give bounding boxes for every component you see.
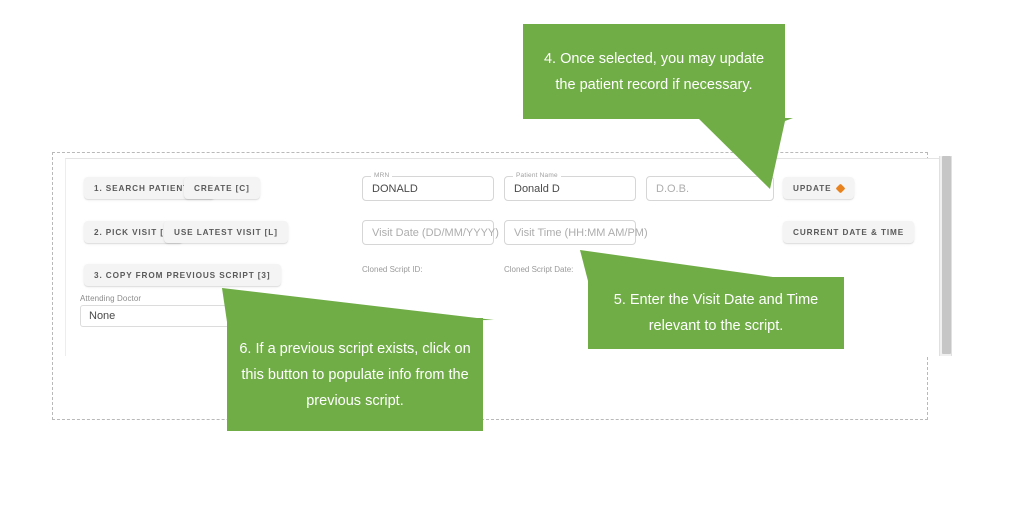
orange-diamond-icon [836,183,846,193]
dob-field[interactable]: D.O.B. [646,176,774,201]
callout-6-text: 6. If a previous script exists, click on… [239,336,471,414]
patient-name-field-value: Donald D [514,183,560,195]
cloned-script-id-label: Cloned Script ID: [362,265,422,274]
callout-4: 4. Once selected, you may update the pat… [523,24,785,119]
callout-4-text: 4. Once selected, you may update the pat… [535,46,773,98]
create-patient-button[interactable]: CREATE [C] [184,177,260,199]
mrn-field[interactable]: MRN DONALD [362,176,494,201]
visit-date-field-placeholder: Visit Date (DD/MM/YYYY) [372,227,499,239]
use-latest-visit-button[interactable]: USE LATEST VISIT [L] [164,221,288,243]
update-button[interactable]: UPDATE [783,177,854,199]
mrn-field-label: MRN [371,172,392,180]
vertical-scrollbar[interactable] [939,156,952,356]
current-date-time-button[interactable]: CURRENT DATE & TIME [783,221,914,243]
patient-name-field-label: Patient Name [513,172,561,180]
attending-doctor-value: None [89,310,115,322]
update-button-label: UPDATE [793,184,831,193]
dob-field-placeholder: D.O.B. [656,183,689,195]
mrn-field-value: DONALD [372,183,418,195]
visit-time-field[interactable]: Visit Time (HH:MM AM/PM) [504,220,636,245]
attending-doctor-label: Attending Doctor [80,294,355,303]
visit-time-field-placeholder: Visit Time (HH:MM AM/PM) [514,227,648,239]
visit-date-field[interactable]: Visit Date (DD/MM/YYYY) [362,220,494,245]
callout-5-text: 5. Enter the Visit Date and Time relevan… [600,287,832,339]
vertical-scrollbar-thumb[interactable] [942,156,951,354]
callout-6: 6. If a previous script exists, click on… [227,318,483,431]
patient-name-field[interactable]: Patient Name Donald D [504,176,636,201]
copy-from-previous-script-button[interactable]: 3. COPY FROM PREVIOUS SCRIPT [3] [84,264,281,286]
cloned-script-date-label: Cloned Script Date: [504,265,573,274]
callout-5: 5. Enter the Visit Date and Time relevan… [588,277,844,349]
